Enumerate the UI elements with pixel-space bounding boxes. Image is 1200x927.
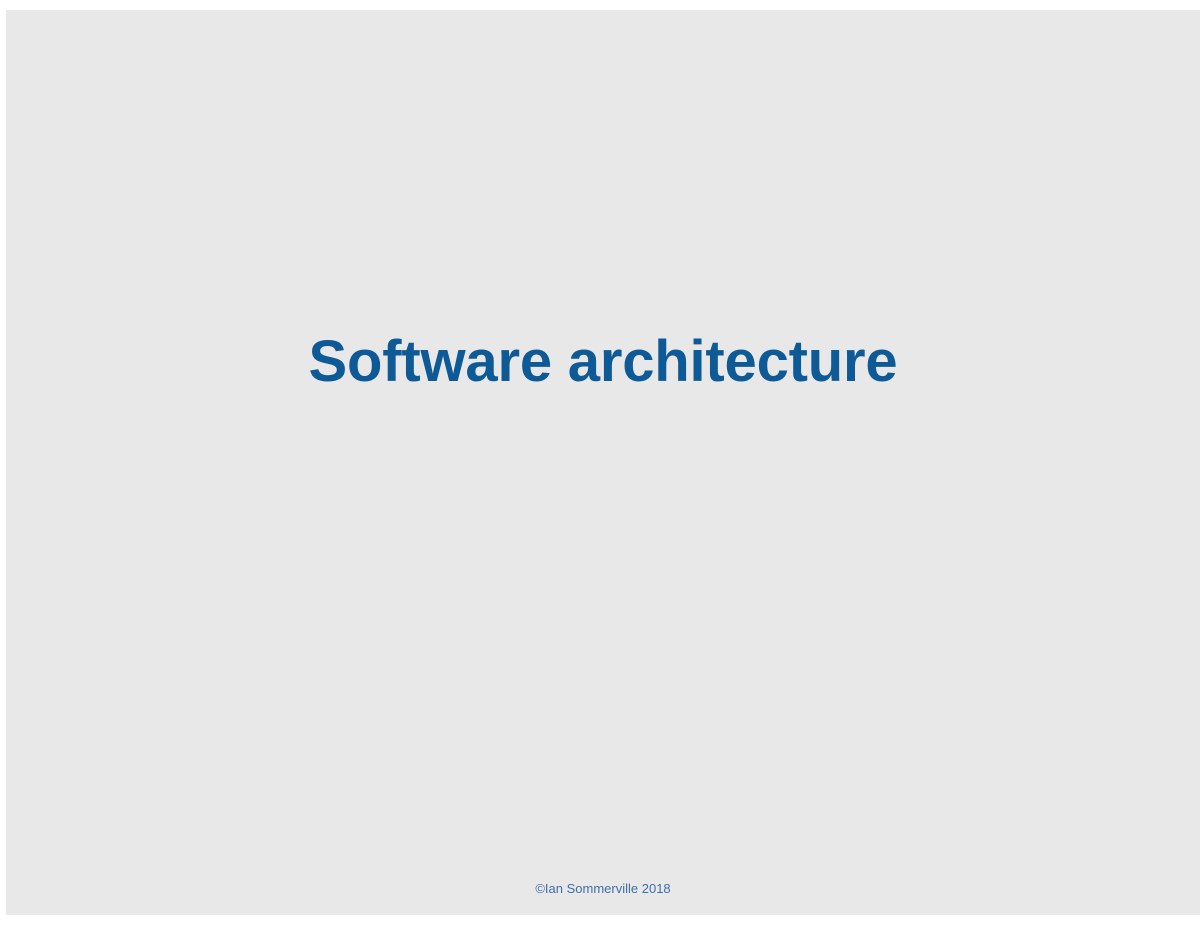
copyright-text: ©Ian Sommerville 2018: [535, 881, 670, 897]
presentation-slide: Software architecture ©Ian Sommerville 2…: [6, 10, 1200, 915]
slide-footer: ©Ian Sommerville 2018: [6, 880, 1200, 898]
page-title: Software architecture: [309, 332, 898, 393]
slide-title-block: Software architecture: [6, 332, 1200, 393]
slide-body-content-area: [66, 440, 1140, 860]
page-canvas: Software architecture ©Ian Sommerville 2…: [0, 0, 1200, 927]
